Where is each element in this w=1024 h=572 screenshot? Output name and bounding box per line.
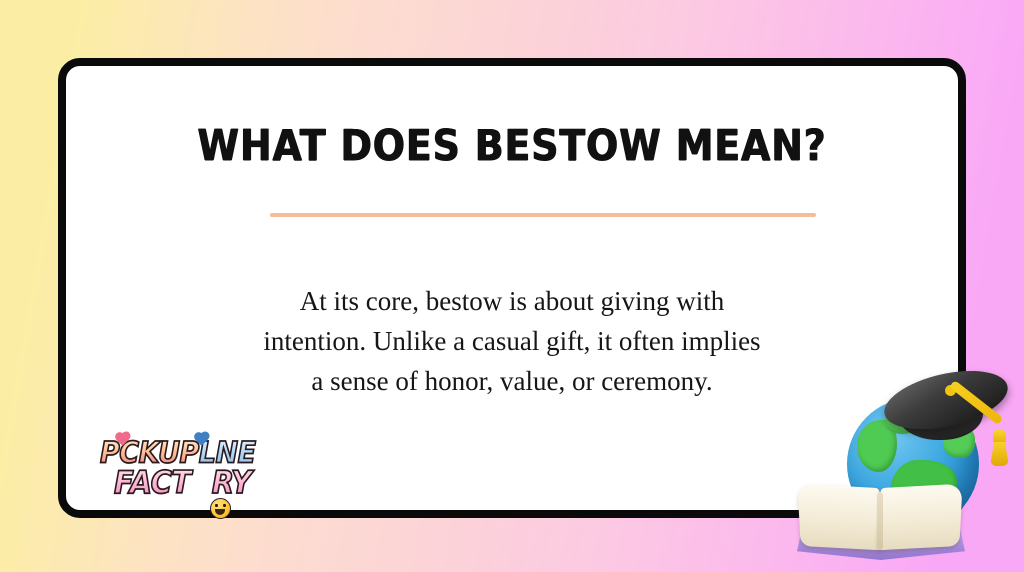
definition-text: At its core, bestow is about giving with…	[256, 281, 768, 401]
logo-text-ry: RY	[212, 464, 252, 501]
book-page-left	[797, 484, 882, 551]
smiley-mouth	[215, 509, 225, 515]
logo-line-2: FACTRY	[114, 465, 251, 499]
tassel-knot	[993, 430, 1006, 444]
open-book-icon	[795, 480, 967, 564]
book-page-right	[877, 484, 962, 551]
title-divider	[270, 213, 816, 217]
globe-graduation-cap-book-illustration	[795, 368, 1024, 564]
smiley-face-icon	[210, 498, 231, 519]
page-title: WHAT DOES BESTOW MEAN?	[120, 121, 905, 171]
smiley-eye-right	[223, 504, 226, 507]
smiley-eye-left	[215, 504, 218, 507]
tassel-skirt	[990, 442, 1009, 466]
logo-text-fact: FACT	[114, 464, 191, 501]
book-spine-crease	[877, 492, 883, 550]
graduation-cap-icon	[883, 368, 1013, 450]
brand-logo[interactable]: PCKUPLNE FACTRY	[100, 438, 260, 504]
page-background: WHAT DOES BESTOW MEAN? At its core, best…	[0, 0, 1024, 572]
